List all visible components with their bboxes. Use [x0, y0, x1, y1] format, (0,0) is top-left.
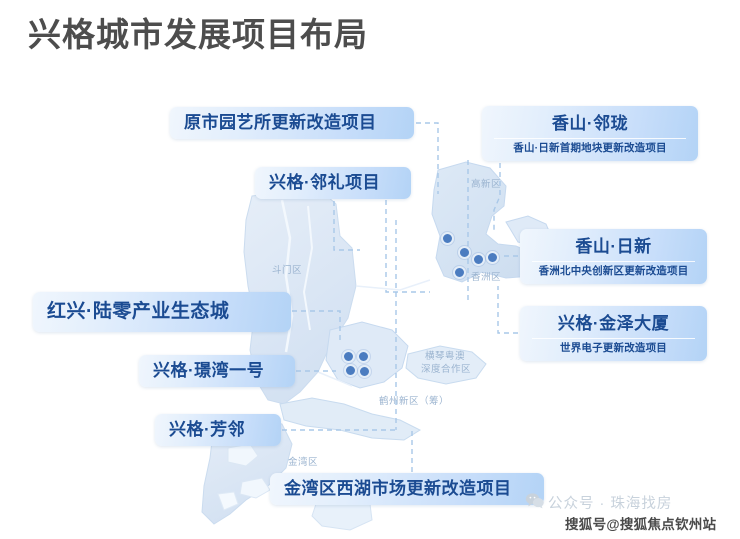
- connector-jinze: [498, 286, 518, 333]
- dot-xiangzhou-4[interactable]: [453, 266, 466, 279]
- connector-hongxing: [292, 311, 340, 340]
- project-chip-xingge-lingli[interactable]: 兴格·邻礼项目: [255, 167, 411, 199]
- chip-divider: [532, 261, 695, 262]
- district-label-xiangzhou: 香洲区: [471, 272, 501, 284]
- dot-hezhou-2[interactable]: [357, 350, 370, 363]
- project-subtitle: 世界电子更新改造项目: [560, 342, 667, 356]
- project-title: 原市园艺所更新改造项目: [184, 112, 400, 135]
- connector-lingli-b: [386, 200, 430, 292]
- chip-divider: [532, 338, 695, 339]
- project-chip-xiangshan-rixin[interactable]: 香山·日新香洲北中央创新区更新改造项目: [520, 229, 707, 284]
- district-label-hezhou: 鹤州新区（筹）: [379, 396, 449, 408]
- district-label-jinwan: 金湾区: [288, 457, 318, 469]
- project-chip-yuanshi-yuanyi[interactable]: 原市园艺所更新改造项目: [170, 107, 414, 139]
- project-title: 兴格·邻礼项目: [269, 172, 397, 195]
- project-title: 兴格·璟湾一号: [153, 360, 281, 383]
- dot-gaoxin-1[interactable]: [441, 232, 454, 245]
- dot-hezhou-4[interactable]: [358, 365, 371, 378]
- project-chip-hongxing-luling[interactable]: 红兴·陆零产业生态城: [33, 292, 291, 332]
- district-label-hengqin: 横琴粤澳: [425, 351, 465, 363]
- district-label-gaoxin: 高新区: [471, 179, 501, 191]
- project-chip-jinwan-xihu[interactable]: 金湾区西湖市场更新改造项目: [270, 473, 544, 505]
- dot-xiangzhou-2[interactable]: [472, 253, 485, 266]
- connector-lingli-a: [334, 201, 360, 250]
- connector-linglong: [494, 163, 500, 232]
- dot-xiangzhou-1[interactable]: [458, 246, 471, 259]
- dot-hezhou-3[interactable]: [344, 364, 357, 377]
- project-title: 金湾区西湖市场更新改造项目: [284, 478, 530, 501]
- project-chip-xingge-jinze-dasha[interactable]: 兴格·金泽大厦世界电子更新改造项目: [520, 306, 707, 361]
- dot-hezhou-1[interactable]: [342, 350, 355, 363]
- wechat-icon: [525, 492, 545, 509]
- dot-xiangzhou-3[interactable]: [486, 251, 499, 264]
- project-title: 兴格·芳邻: [169, 419, 267, 442]
- district-label-doumen: 斗门区: [272, 265, 302, 277]
- watermark-wechat-account: 公众号 · 珠海找房: [548, 492, 672, 513]
- project-title: 香山·日新: [575, 236, 651, 259]
- project-title: 红兴·陆零产业生态城: [47, 299, 277, 325]
- project-title: 香山·邻珑: [552, 113, 628, 136]
- project-chip-xingge-jingwan-yihao[interactable]: 兴格·璟湾一号: [139, 355, 295, 387]
- watermark-sohu-account: 搜狐号@搜狐焦点钦州站: [565, 513, 716, 533]
- project-subtitle: 香洲北中央创新区更新改造项目: [539, 265, 689, 279]
- infographic-canvas: 兴格城市发展项目布局: [0, 0, 740, 539]
- connector-yuanshi: [416, 123, 438, 194]
- project-chip-xingge-fanglin[interactable]: 兴格·芳邻: [155, 414, 281, 446]
- district-label-hengqin-2: 深度合作区: [421, 364, 471, 376]
- chip-divider: [494, 138, 686, 139]
- project-title: 兴格·金泽大厦: [558, 313, 669, 336]
- project-subtitle: 香山·日新首期地块更新改造项目: [513, 142, 667, 156]
- project-chip-xiangshan-linglong[interactable]: 香山·邻珑香山·日新首期地块更新改造项目: [482, 106, 698, 161]
